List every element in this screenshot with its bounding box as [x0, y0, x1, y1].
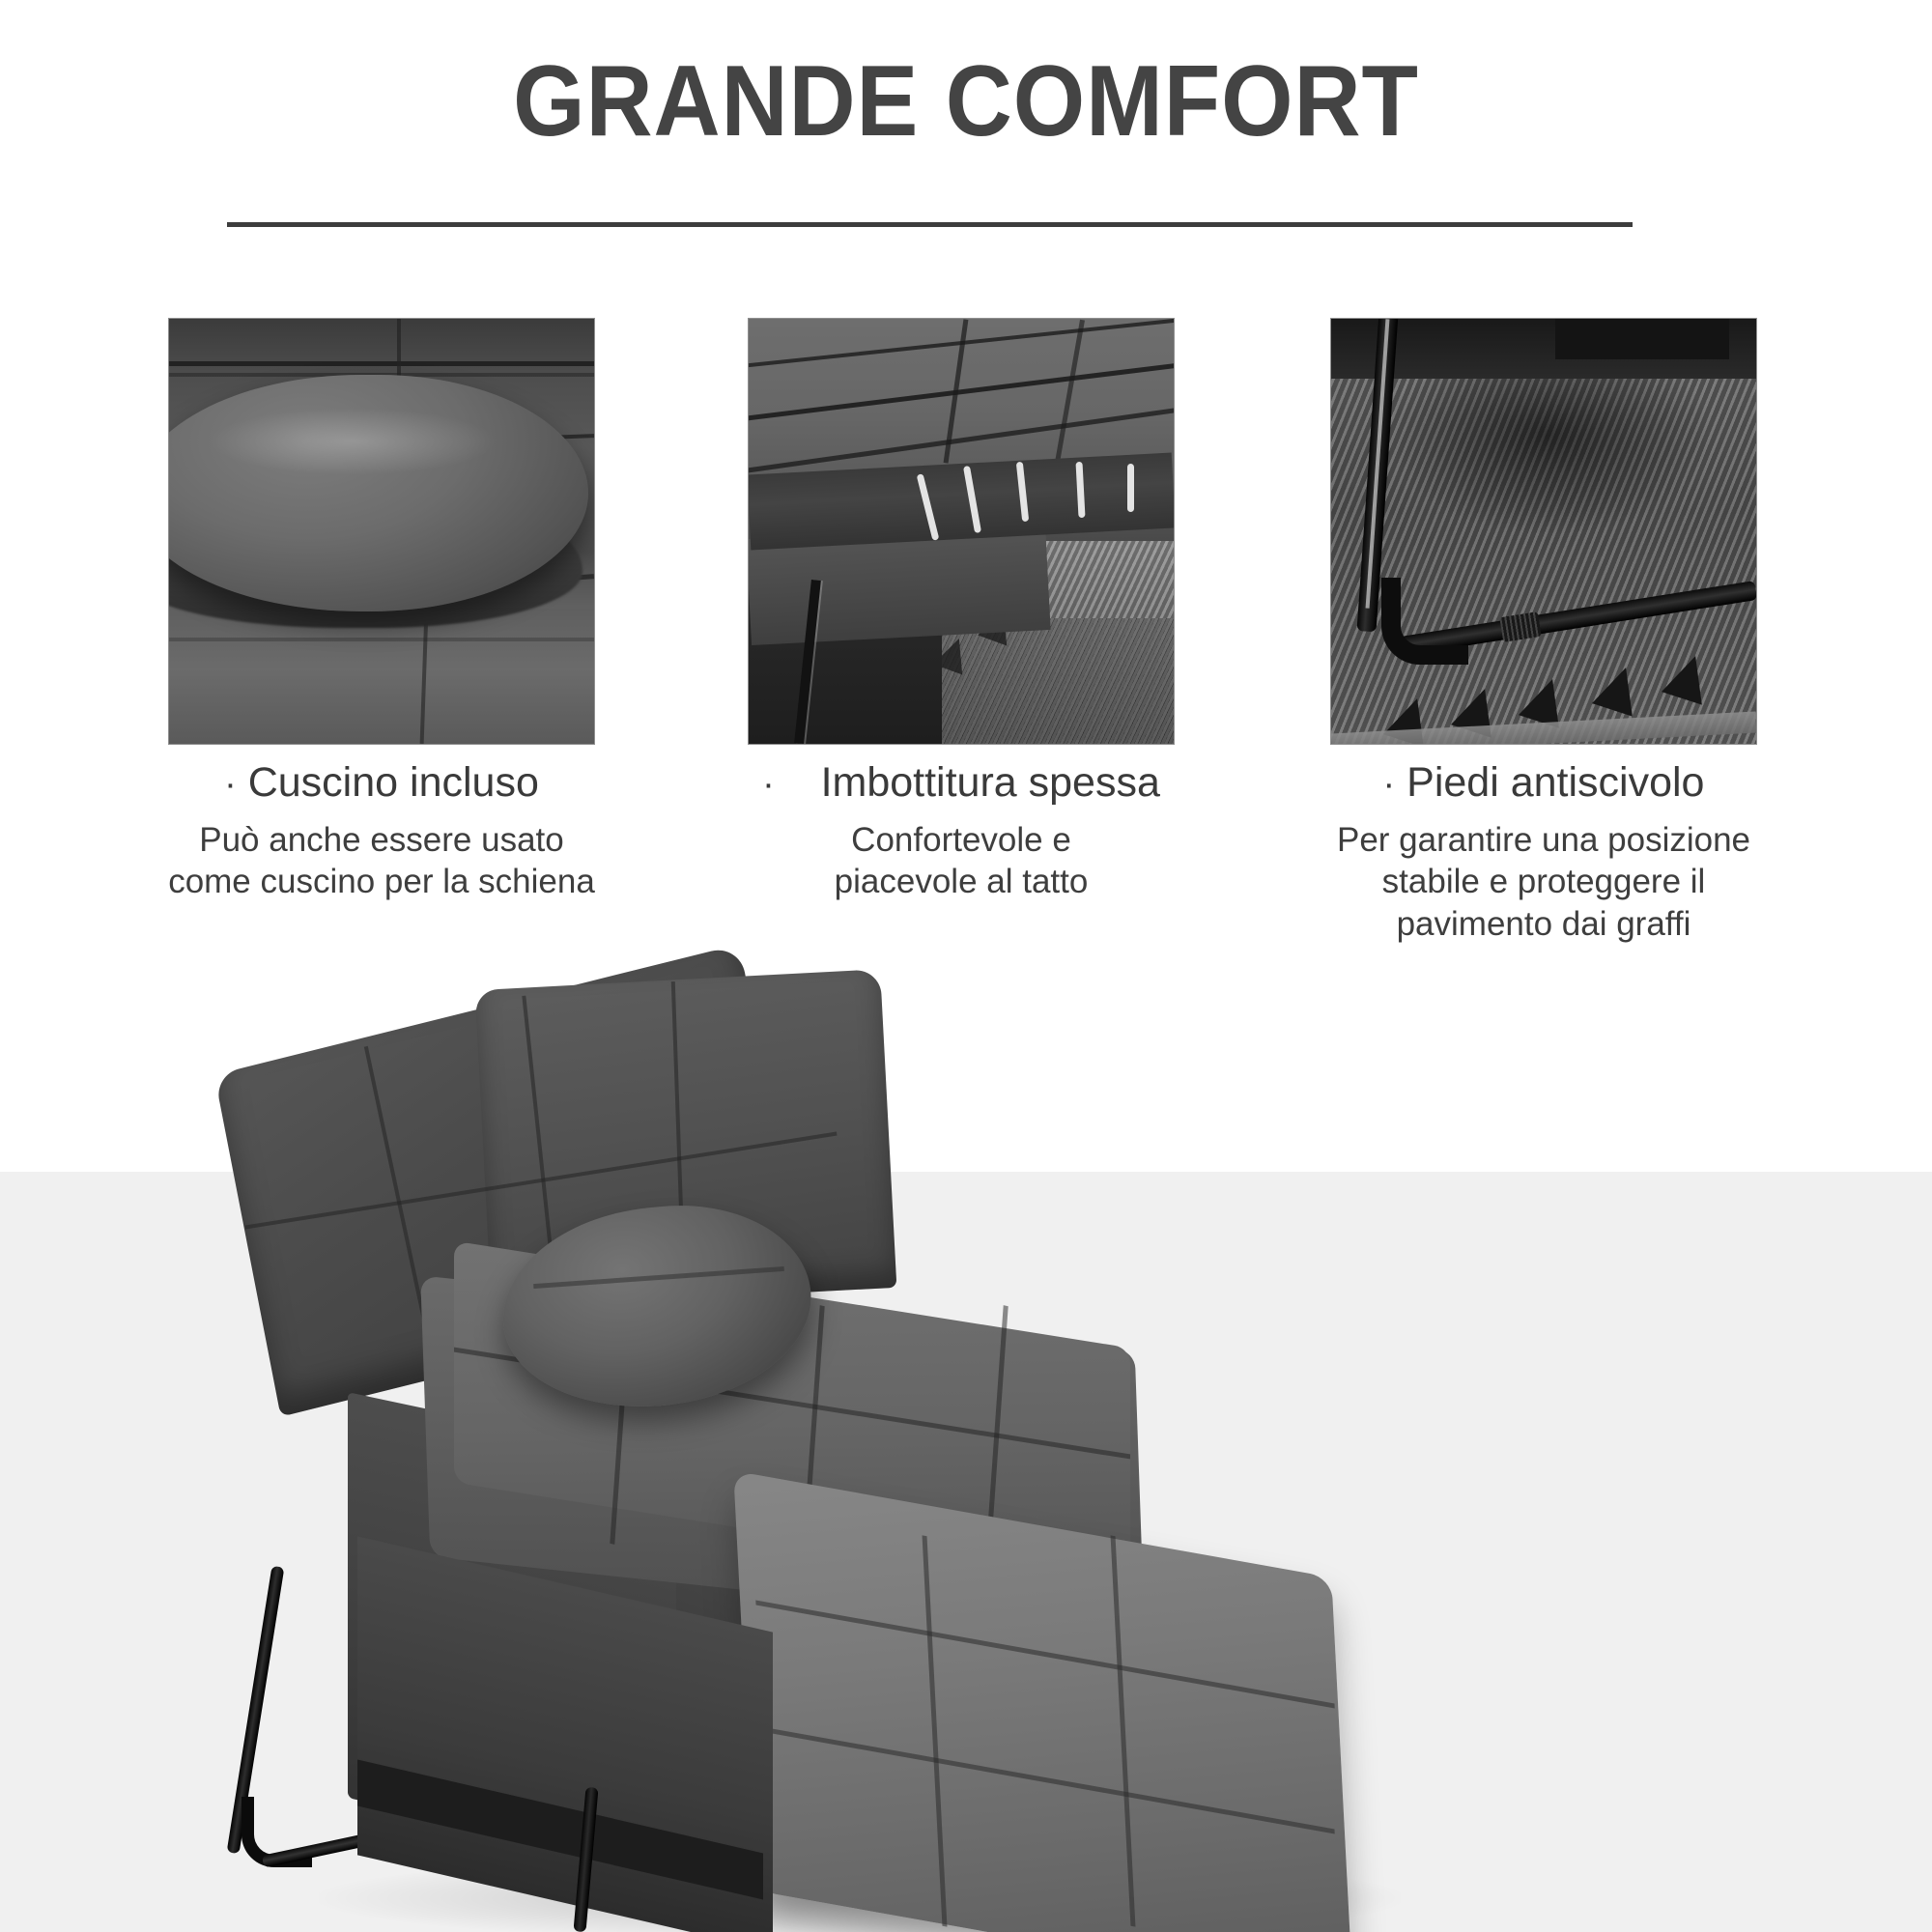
bullet-icon: · [224, 764, 237, 805]
feature-subtitle: Confortevole e piacevole al tatto [739, 819, 1183, 904]
thick-padding-closeup-photo [749, 319, 1174, 744]
bullet-icon: · [762, 764, 775, 805]
feature-subtitle: Può anche essere usato come cuscino per … [121, 819, 642, 904]
feature-title-text: Cuscino incluso [248, 759, 539, 806]
feature-title-text: Piedi antiscivolo [1406, 759, 1704, 806]
non-slip-feet-closeup-photo [1331, 319, 1756, 744]
feature-subtitle: Per garantire una posizione stabile e pr… [1273, 819, 1814, 946]
feature-caption: · Piedi antiscivolo Per garantire una po… [1273, 758, 1814, 946]
title-divider [227, 222, 1633, 227]
hero-product-image [0, 985, 1932, 1932]
feature-caption: · Imbottitura spessa Confortevole e piac… [739, 758, 1183, 903]
cushion-closeup-photo [169, 319, 594, 744]
bullet-icon: · [1383, 764, 1396, 805]
feature-row: · Cuscino incluso Può anche essere usato… [0, 319, 1932, 995]
feature-caption: · Cuscino incluso Può anche essere usato… [121, 758, 642, 903]
feature-title-text: Imbottitura spessa [821, 759, 1160, 806]
ottoman-top [733, 1470, 1353, 1932]
feature-title: · Piedi antiscivolo [1273, 758, 1814, 808]
feature-title: · Imbottitura spessa [739, 758, 1183, 808]
page-title: GRANDE COMFORT [77, 39, 1855, 164]
infographic-page: GRANDE COMFORT · Cuscino incluso P [0, 0, 1932, 1932]
feature-title: · Cuscino incluso [121, 758, 642, 808]
